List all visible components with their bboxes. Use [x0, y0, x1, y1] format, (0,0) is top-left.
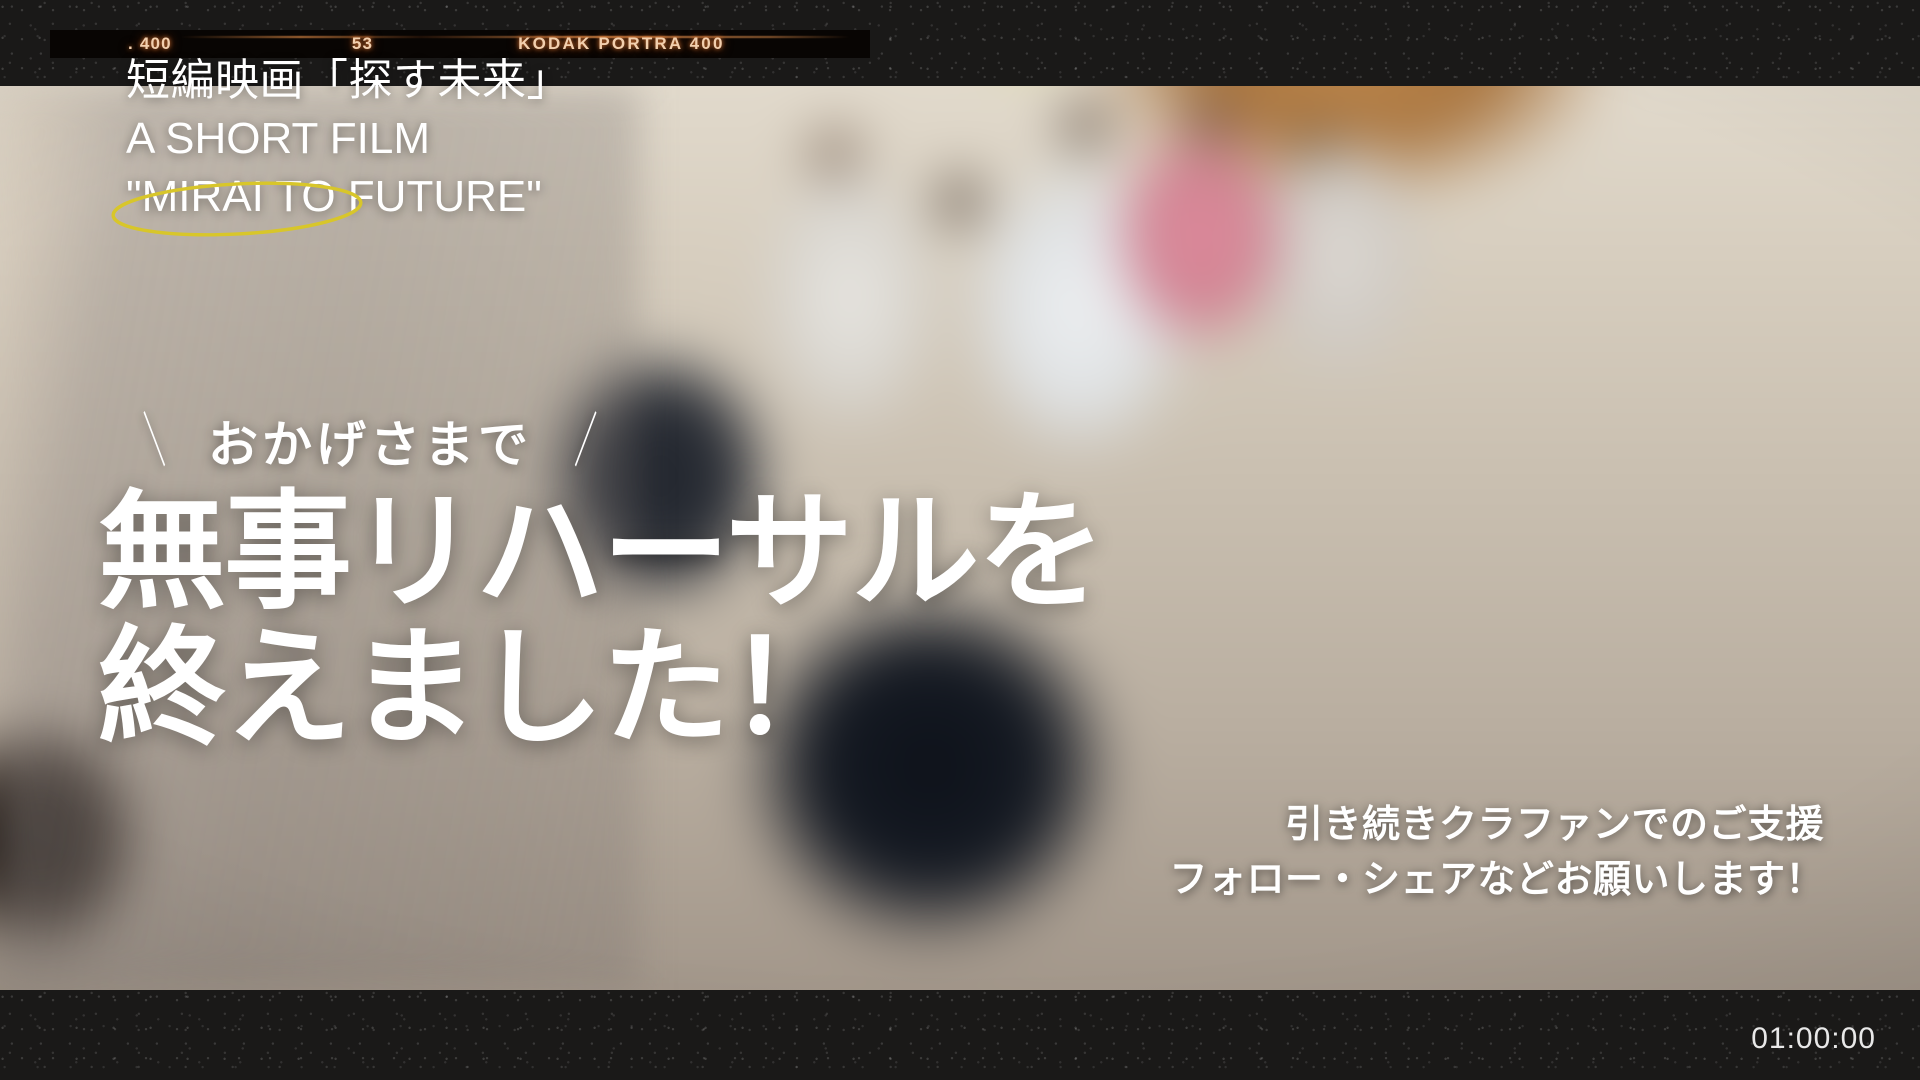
headline-line-2: 終えました！: [98, 621, 1103, 757]
timecode-display: 01:00:00: [1751, 1022, 1876, 1056]
support-text-block: 引き続きクラファンでのご支援 フォロー・シェアなどお願いします！: [1169, 798, 1824, 908]
film-strip-iso-label: . 400: [128, 34, 172, 54]
film-strip-frame-number: 53: [352, 34, 373, 54]
kicker-row: ＼ おかげさまで ／: [126, 405, 614, 477]
kicker-text: おかげさまで: [208, 405, 532, 477]
film-title-japanese: 短編映画「探す未来」: [126, 52, 571, 110]
support-text-line-1: 引き続きクラファンでのご支援: [1169, 798, 1824, 853]
film-strip-brand-label: KODAK PORTRA 400: [518, 34, 725, 54]
bottom-letterbox-bar: [0, 990, 1920, 1080]
slash-left-decoration: ＼: [135, 411, 173, 471]
headline-line-1: 無事リハーサルを: [98, 485, 1103, 621]
video-frame: . 400 53 KODAK PORTRA 400 短編映画「探す未来」 A S…: [0, 0, 1920, 1080]
film-title-block: 短編映画「探す未来」 A SHORT FILM "MIRAI TO FUTURE…: [126, 52, 571, 226]
slash-right-decoration: ／: [567, 411, 605, 471]
support-text-line-2: フォロー・シェアなどお願いします！: [1169, 853, 1824, 908]
film-title-english-line-1: A SHORT FILM: [126, 110, 571, 168]
headline-block: 無事リハーサルを 終えました！: [98, 485, 1103, 757]
film-title-english-line-2: "MIRAI TO FUTURE": [126, 168, 571, 226]
